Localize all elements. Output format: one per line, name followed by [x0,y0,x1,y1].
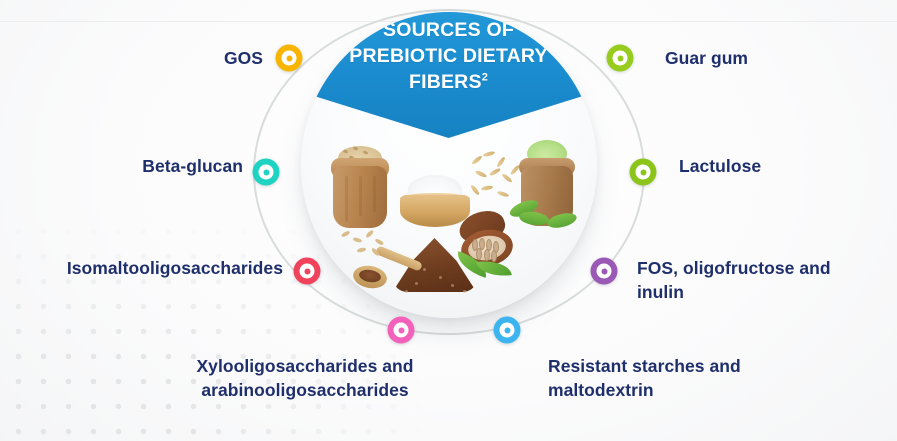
marker-beta-glucan[interactable] [253,159,280,186]
title-line-3: FIBERS [409,71,482,93]
marker-core [617,55,623,61]
marker-core [504,327,510,333]
label-fos-oligofructose-inulin[interactable]: FOS, oligofructose and inulin [637,257,831,304]
marker-core [398,327,404,333]
title-superscript: 2 [482,71,488,83]
grain-sack-icon [329,144,391,228]
marker-core [263,169,269,175]
label-guar-gum[interactable]: Guar gum [665,47,748,71]
marker-ring [394,323,409,338]
page-title: SOURCES OF PREBIOTIC DIETARY FIBERS2 [349,18,547,96]
wooden-spoon-icon [353,252,421,288]
label-resistant-starches[interactable]: Resistant starches and maltodextrin [548,355,878,402]
center-disc: SOURCES OF PREBIOTIC DIETARY FIBERS2 [301,12,597,318]
marker-xylooligosaccharides[interactable] [388,317,415,344]
marker-fos-oligofructose-inulin[interactable] [591,258,618,285]
marker-gos[interactable] [276,45,303,72]
marker-ring [597,264,612,279]
label-lactulose[interactable]: Lactulose [679,155,761,179]
prebiotic-fiber-sources-infographic: SOURCES OF PREBIOTIC DIETARY FIBERS2 [0,0,897,441]
label-xylooligosaccharides[interactable]: Xylooligosaccharides and arabinooligosac… [120,355,490,402]
loose-grain-flecks-icon [341,230,395,256]
label-beta-glucan[interactable]: Beta-glucan [142,155,243,179]
marker-ring [300,264,315,279]
marker-ring [500,323,515,338]
title-line-2: PREBIOTIC DIETARY [349,45,547,67]
title-line-1: SOURCES OF [383,19,514,41]
pea-sack-icon [513,140,579,228]
marker-resistant-starches[interactable] [494,317,521,344]
marker-core [304,268,310,274]
marker-ring [282,51,297,66]
marker-core [286,55,292,61]
marker-core [640,169,646,175]
marker-core [601,268,607,274]
label-isomaltooligosaccharides[interactable]: Isomaltooligosaccharides [67,257,283,281]
label-gos[interactable]: GOS [224,47,263,71]
marker-lactulose[interactable] [630,159,657,186]
marker-ring [636,165,651,180]
marker-ring [259,165,274,180]
marker-ring [613,51,628,66]
marker-guar-gum[interactable] [607,45,634,72]
marker-isomaltooligosaccharides[interactable] [294,258,321,285]
